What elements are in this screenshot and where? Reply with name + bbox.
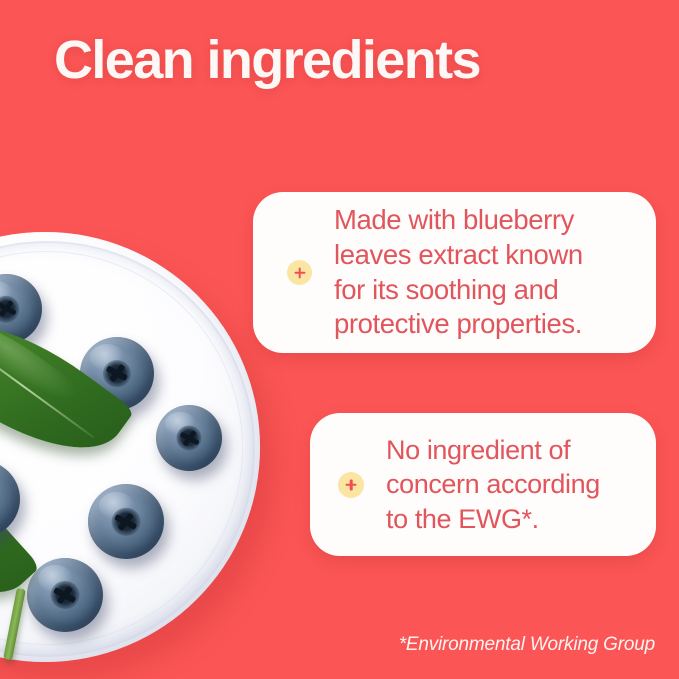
blueberry-calyx: [51, 581, 80, 609]
product-ingredient-photo: [0, 232, 260, 662]
blueberry-calyx: [112, 507, 141, 536]
clean-ingredient-benefit-card[interactable]: Made with blueberry leaves extract known…: [253, 192, 656, 353]
page-title: Clean ingredients: [54, 32, 480, 89]
benefit-card-text: Made with blueberry leaves extract known…: [334, 203, 583, 343]
blueberry: [27, 558, 103, 632]
plus-icon: [338, 472, 364, 498]
promo-panel: Clean ingredients: [0, 0, 679, 679]
blueberry: [88, 484, 164, 559]
blueberry-calyx: [0, 296, 20, 323]
clean-ingredient-benefit-card[interactable]: No ingredient of concern according to th…: [310, 413, 656, 556]
blueberry-calyx: [103, 360, 131, 388]
blueberry: [156, 405, 222, 471]
blueberry-calyx: [176, 425, 201, 450]
footnote-text: *Environmental Working Group: [399, 634, 655, 656]
plus-icon: [287, 260, 312, 285]
benefit-card-text: No ingredient of concern according to th…: [386, 433, 600, 536]
